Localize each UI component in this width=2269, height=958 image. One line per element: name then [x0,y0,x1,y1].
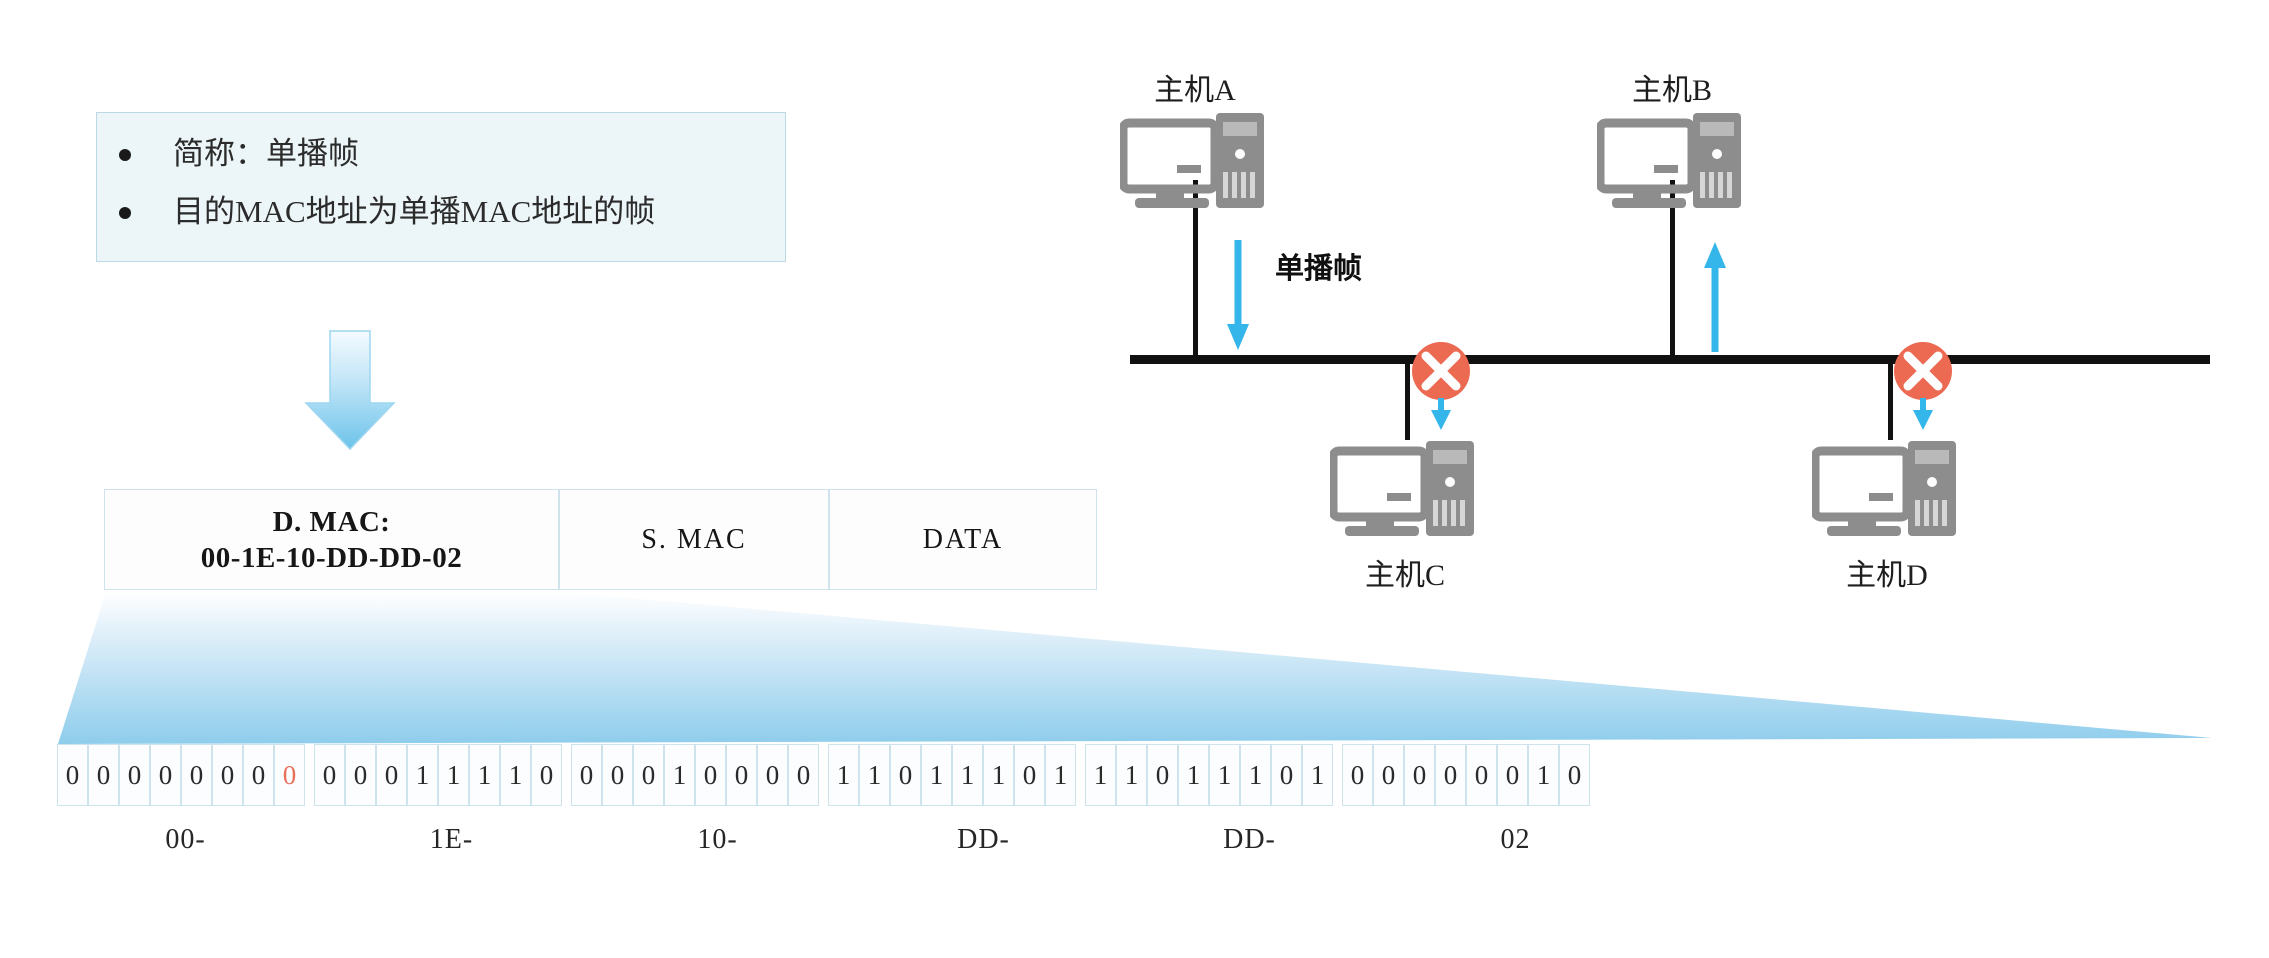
byte-group: 00010000 [571,744,819,806]
byte-group: 00000010 [1342,744,1590,806]
byte-group: 11011101 [828,744,1076,806]
bit-cell: 1 [983,744,1014,806]
bit-cell: 0 [531,744,562,806]
bit-cell: 1 [1085,744,1116,806]
bit-cell: 1 [1045,744,1076,806]
bit-cell: 0 [181,744,212,806]
bit-cell: 0 [119,744,150,806]
bullet-item: 简称：单播帧 [97,131,785,189]
bit-cell: 0 [88,744,119,806]
bit-cell: 0 [633,744,664,806]
host-c-label: 主机C [1330,550,1480,594]
computer-icon [1812,438,1962,543]
byte-group: 11011101 [1085,744,1333,806]
frame-cell-smac: S. MAC [559,489,829,590]
bit-cell: 0 [57,744,88,806]
byte-group: 00000000 [57,744,305,806]
bit-cell: 0 [571,744,602,806]
byte-group: 00011110 [314,744,562,806]
host-b-label: 主机B [1597,65,1747,109]
bit-cell: 0 [345,744,376,806]
bit-cell: 0 [314,744,345,806]
bit-cell: 1 [921,744,952,806]
network-topology-diagram: 主机A 单播帧 主机B [1120,60,2240,650]
ethernet-frame-table: D. MAC: 00-1E-10-DD-DD-02 S. MAC DATA [104,489,1097,590]
bit-cell: 1 [859,744,890,806]
frame-cell-data: DATA [829,489,1097,590]
bit-cell: 1 [1302,744,1333,806]
blocked-down-arrow-icon [1428,398,1454,432]
byte-label: 10- [589,824,846,870]
data-label: DATA [923,524,1003,556]
unicast-send-arrow-icon [1225,240,1251,352]
computer-icon [1120,110,1270,215]
bit-cell: 0 [1404,744,1435,806]
byte-label: DD- [855,824,1112,870]
down-block-arrow-icon [290,325,410,455]
bit-cell: 0 [243,744,274,806]
definition-callout: 简称：单播帧 目的MAC地址为单播MAC地址的帧 [96,112,786,262]
bit-cell: 0 [726,744,757,806]
bit-cell: 1 [407,744,438,806]
bit-cell: 0 [1466,744,1497,806]
unicast-frame-label: 单播帧 [1275,245,1362,287]
computer-icon [1330,438,1480,543]
bit-cell: 0 [1342,744,1373,806]
bit-cell: 0 [1497,744,1528,806]
bit-cell: 0 [788,744,819,806]
bullet-label: 目的MAC地址为单播MAC地址的帧 [173,189,655,235]
smac-label: S. MAC [641,524,746,556]
bit-cell: 0 [1559,744,1590,806]
bit-cell: 1 [828,744,859,806]
byte-label: 02 [1387,824,1644,870]
bit-cell: 1 [500,744,531,806]
blocked-x-icon [1892,340,1954,402]
host-a-label: 主机A [1120,65,1270,109]
bit-cell: 0 [1435,744,1466,806]
byte-label: DD- [1121,824,1378,870]
frame-cell-dmac: D. MAC: 00-1E-10-DD-DD-02 [104,489,559,590]
bit-cell: 0 [1373,744,1404,806]
bit-cell: 0 [212,744,243,806]
bit-cell: 0 [274,744,305,806]
blocked-x-icon [1410,340,1472,402]
byte-label: 00- [57,824,314,870]
bit-cell: 0 [150,744,181,806]
bit-cell: 0 [376,744,407,806]
bit-cell: 1 [664,744,695,806]
mac-bit-row: 0000000000011110000100001101110111011101… [57,744,1590,806]
bit-cell: 1 [1528,744,1559,806]
bit-cell: 0 [602,744,633,806]
bit-cell: 0 [1014,744,1045,806]
bit-cell: 0 [1147,744,1178,806]
blocked-down-arrow-icon [1910,398,1936,432]
bit-cell: 0 [1271,744,1302,806]
bullet-item: 目的MAC地址为单播MAC地址的帧 [97,189,785,247]
bit-cell: 1 [469,744,500,806]
bit-cell: 1 [1116,744,1147,806]
dmac-address: 00-1E-10-DD-DD-02 [201,540,462,576]
byte-label: 1E- [323,824,580,870]
computer-icon [1597,110,1747,215]
bit-cell: 1 [1209,744,1240,806]
bullet-dot-icon [119,207,131,219]
bit-cell: 1 [1240,744,1271,806]
bit-cell: 1 [438,744,469,806]
bullet-dot-icon [119,149,131,161]
bit-cell: 1 [952,744,983,806]
mac-byte-labels: 00-1E-10-DD-DD-02 [57,824,1644,870]
bit-cell: 0 [890,744,921,806]
host-d-label: 主机D [1812,550,1962,594]
slide-canvas: 简称：单播帧 目的MAC地址为单播MAC地址的帧 D. MAC: 00-1E-1… [0,0,2269,958]
bullet-label: 简称：单播帧 [173,131,359,177]
bit-cell: 0 [757,744,788,806]
bit-cell: 1 [1178,744,1209,806]
bit-cell: 0 [695,744,726,806]
unicast-receive-arrow-icon [1702,242,1728,352]
dmac-title: D. MAC: [273,504,391,540]
